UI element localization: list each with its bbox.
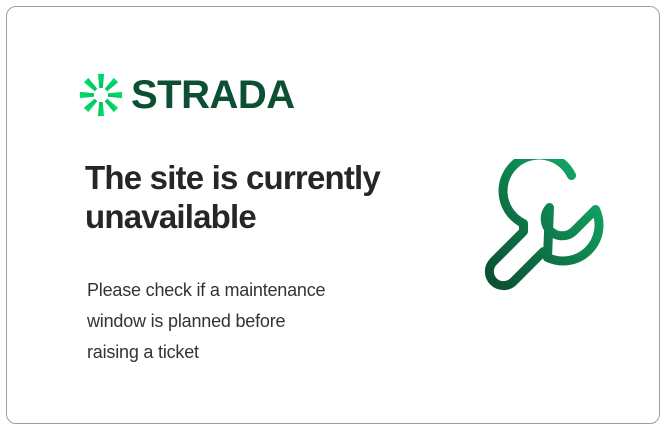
brand-wordmark: STRADA	[131, 75, 295, 115]
body-line: raising a ticket	[87, 337, 397, 368]
status-card: STRADA The site is currently unavailable…	[6, 6, 660, 424]
screen: STRADA The site is currently unavailable…	[0, 0, 666, 436]
wrench-icon	[465, 159, 621, 315]
body-line: window is planned before	[87, 306, 397, 337]
strada-starburst-icon	[79, 73, 123, 117]
body-text: Please check if a maintenance window is …	[87, 275, 397, 368]
page-title: The site is currently unavailable	[85, 159, 425, 237]
brand-lockup: STRADA	[79, 73, 295, 117]
body-line: Please check if a maintenance	[87, 275, 397, 306]
